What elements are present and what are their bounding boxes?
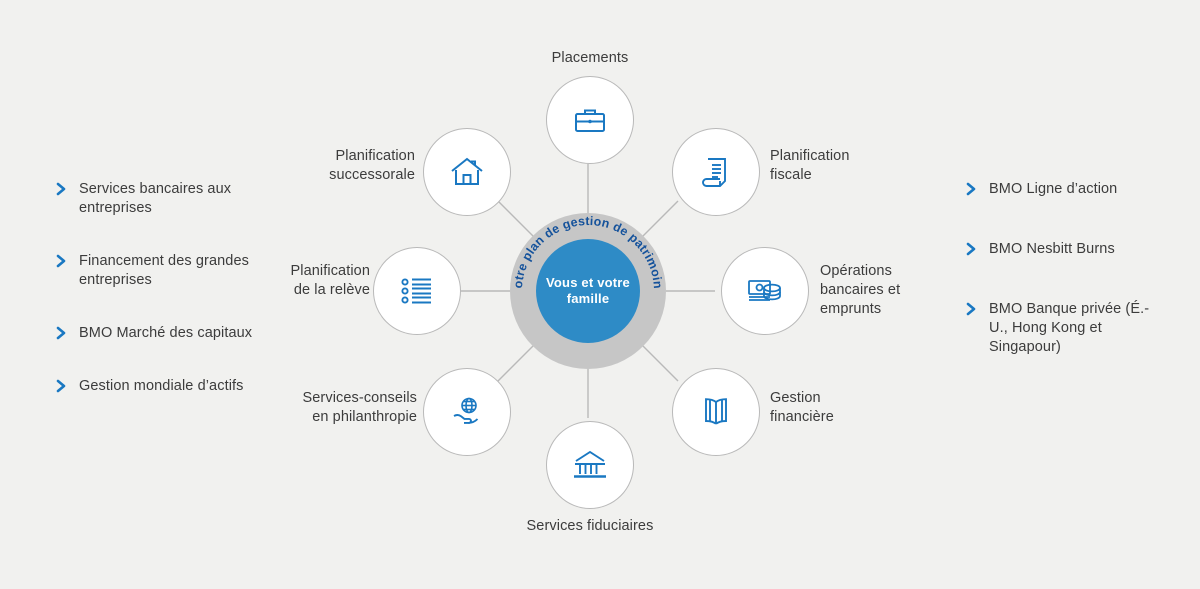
right-services-list: BMO Ligne d’action BMO Nesbitt Burns BMO… [965,180,1165,357]
chevron-right-icon [965,181,978,197]
left-list-item-1-label: Financement des grandes entreprises [79,253,249,288]
left-list-item-3[interactable]: Gestion mondiale d’actifs [55,377,300,396]
right-list-item-0-label: BMO Ligne d’action [989,181,1117,197]
node-planification-successorale[interactable] [423,128,511,216]
chevron-right-icon [965,301,978,317]
left-list-item-0[interactable]: Services bancaires aux entreprises [55,180,300,218]
chevron-right-icon [55,253,68,269]
node-services-fiduciaires-label: Services fiduciaires [467,517,713,536]
right-list-item-2[interactable]: BMO Banque privée (É.-U., Hong Kong et S… [965,300,1165,357]
right-list-item-2-label: BMO Banque privée (É.-U., Hong Kong et S… [989,301,1149,355]
chevron-right-icon [965,241,978,257]
bank-icon [571,447,609,483]
list-icon [398,275,436,307]
chevron-right-icon [55,181,68,197]
document-icon [698,154,734,190]
node-gestion-financiere[interactable] [672,368,760,456]
right-list-item-1-label: BMO Nesbitt Burns [989,241,1115,257]
hub-core-label: Vous et votre famille [546,275,630,307]
briefcase-icon [571,101,609,139]
cash-icon [745,273,785,309]
node-placements[interactable] [546,76,634,164]
node-services-conseils-philanthropie[interactable] [423,368,511,456]
left-list-item-0-label: Services bancaires aux entreprises [79,181,231,216]
node-planification-fiscale-label: Planification fiscale [770,147,940,185]
open-book-icon [697,395,735,429]
home-icon [448,154,486,190]
left-list-item-3-label: Gestion mondiale d’actifs [79,378,244,394]
hub-core: Vous et votre famille [536,239,640,343]
node-planification-releve[interactable] [373,247,461,335]
node-services-fiduciaires[interactable] [546,421,634,509]
left-list-item-2[interactable]: BMO Marché des capitaux [55,324,300,343]
left-list-item-2-label: BMO Marché des capitaux [79,325,252,341]
chevron-right-icon [55,378,68,394]
node-operations-bancaires[interactable] [721,247,809,335]
node-placements-label: Placements [510,49,670,68]
left-services-list: Services bancaires aux entreprises Finan… [55,180,300,396]
right-list-item-1[interactable]: BMO Nesbitt Burns [965,240,1165,259]
hub-core-label-line1: Vous et votre [546,275,630,290]
chevron-right-icon [55,325,68,341]
right-list-item-0[interactable]: BMO Ligne d’action [965,180,1165,199]
wealth-plan-diagram: Votre plan de gestion de patrimoine Vous… [0,0,1200,589]
node-gestion-financiere-label: Gestion financière [770,389,940,427]
left-list-item-1[interactable]: Financement des grandes entreprises [55,252,300,290]
node-planification-fiscale[interactable] [672,128,760,216]
globe-hand-icon [448,394,486,430]
hub-core-label-line2: famille [567,291,610,306]
